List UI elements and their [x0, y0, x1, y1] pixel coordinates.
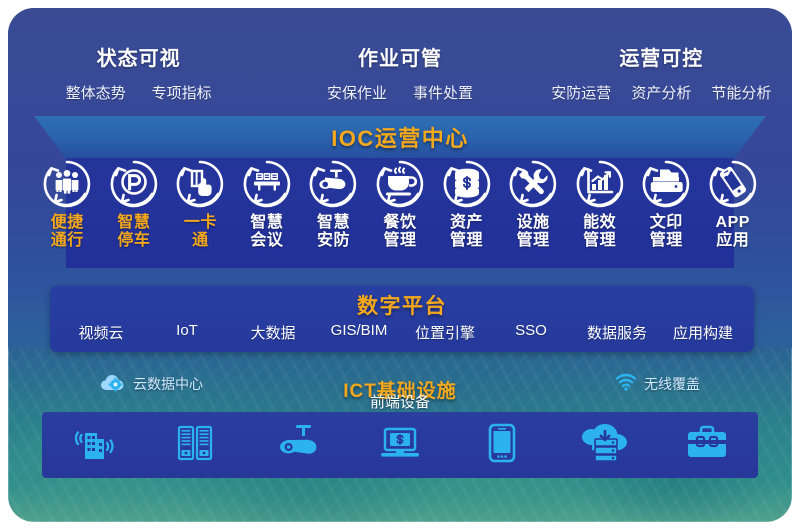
pillar-title: 作业可管 [269, 42, 530, 71]
smart-building-icon [71, 423, 115, 468]
ioc-item-label-line2: 安防 [317, 232, 350, 250]
device-server-rack[interactable] [144, 412, 246, 478]
ioc-item-label-line1: 文印 [650, 214, 683, 232]
device-laptop-payment[interactable] [349, 412, 451, 478]
ioc-item-label-line1: 一卡 [184, 214, 217, 232]
ioc-item-label-line1: 餐饮 [384, 214, 417, 232]
ioc-item-label: 设施 管理 [517, 214, 550, 250]
meeting-table-icon [241, 158, 293, 210]
ioc-item-label-line2: 通行 [51, 232, 84, 250]
ioc-item-smart-parking[interactable]: 智慧 停车 [101, 158, 168, 250]
ioc-item-label-line2: 管理 [517, 232, 550, 250]
platform-item[interactable]: 位置引擎 [402, 322, 488, 343]
pillar-subitems: 整体态势 专项指标 [8, 82, 269, 103]
ioc-item-label: 文印 管理 [650, 214, 683, 250]
hand-card-icon [174, 158, 226, 210]
pillar-subitems: 安保作业 事件处置 [269, 82, 530, 103]
top-pillars: 状态可视 整体态势 专项指标 作业可管 安保作业 事件处置 运营可控 安防运营 … [8, 42, 792, 103]
front-end-devices-panel: 前端设备 [42, 412, 758, 478]
platform-item[interactable]: SSO [488, 322, 574, 343]
ioc-item-asset-management[interactable]: 资产 管理 [433, 158, 500, 250]
pillar-subitems: 安防运营 资产分析 节能分析 [531, 82, 792, 103]
bullet-camera-icon [272, 423, 324, 468]
ioc-item-label-line1: 设施 [517, 214, 550, 232]
ioc-item-label-line2: 管理 [384, 232, 417, 250]
device-cloud-storage[interactable] [553, 412, 655, 478]
cctv-camera-icon [307, 158, 359, 210]
pillar-operation-manageable: 作业可管 安保作业 事件处置 [269, 42, 530, 103]
platform-item[interactable]: GIS/BIM [316, 322, 402, 343]
ioc-item-label: 一卡 通 [184, 214, 217, 250]
laptop-payment-icon [377, 423, 423, 468]
ioc-item-one-card-pass[interactable]: 一卡 通 [167, 158, 234, 250]
device-tablet[interactable] [451, 412, 553, 478]
ioc-item-label-line1: 资产 [450, 214, 483, 232]
device-bullet-camera[interactable] [247, 412, 349, 478]
pillar-status-visible: 状态可视 整体态势 专项指标 [8, 42, 269, 103]
platform-item[interactable]: IoT [144, 322, 230, 343]
pillar-subitem[interactable]: 事件处置 [413, 82, 473, 103]
ioc-item-label-line2: 会议 [250, 232, 283, 250]
printer-folder-icon [640, 158, 692, 210]
ioc-item-convenient-access[interactable]: 便捷 通行 [34, 158, 101, 250]
ioc-item-smart-meeting[interactable]: 智慧 会议 [234, 158, 301, 250]
ioc-item-catering-management[interactable]: 餐饮 管理 [367, 158, 434, 250]
ioc-item-label-line2: 应用 [716, 232, 750, 250]
ioc-item-label-line1: 智慧 [250, 214, 283, 232]
digital-platform-panel: 数字平台 视频云 IoT 大数据 GIS/BIM 位置引擎 SSO 数据服务 应… [50, 286, 754, 352]
ioc-item-label: 资产 管理 [450, 214, 483, 250]
ioc-item-label-line2: 管理 [650, 232, 683, 250]
tablet-device-icon [486, 422, 518, 469]
ioc-title: IOC运营中心 [34, 116, 766, 158]
pillar-subitem[interactable]: 节能分析 [711, 82, 771, 103]
pillar-subitem[interactable]: 专项指标 [152, 82, 212, 103]
ioc-item-label-line1: 能效 [583, 214, 616, 232]
ioc-item-label: 智慧 会议 [250, 214, 283, 250]
platform-item[interactable]: 大数据 [230, 322, 316, 343]
ioc-item-label-line1: 便捷 [51, 214, 84, 232]
ioc-service-list: 便捷 通行 智慧 停车 [34, 158, 766, 270]
ioc-item-label: 便捷 通行 [51, 214, 84, 250]
tools-wrench-icon [507, 158, 559, 210]
ioc-item-energy-efficiency[interactable]: 能效 管理 [566, 158, 633, 250]
platform-item[interactable]: 视频云 [58, 322, 144, 343]
ioc-item-printing-management[interactable]: 文印 管理 [633, 158, 700, 250]
pillar-title: 状态可视 [8, 42, 269, 71]
ioc-item-label-line1: 智慧 [117, 214, 150, 232]
front-end-devices-caption: 前端设备 [42, 391, 758, 412]
diagram-card: 状态可视 整体态势 专项指标 作业可管 安保作业 事件处置 运营可控 安防运营 … [8, 8, 792, 522]
ioc-item-label: 智慧 安防 [317, 214, 350, 250]
pillar-operations-controllable: 运营可控 安防运营 资产分析 节能分析 [531, 42, 792, 103]
ioc-item-label-line2: 管理 [583, 232, 616, 250]
bar-chart-icon [574, 158, 626, 210]
platform-item[interactable]: 应用构建 [660, 322, 746, 343]
ioc-item-label: 智慧 停车 [117, 214, 150, 250]
money-stack-icon [441, 158, 493, 210]
people-group-icon [41, 158, 93, 210]
cloud-storage-icon [577, 423, 633, 468]
parking-p-icon [108, 158, 160, 210]
digital-platform-title: 数字平台 [50, 290, 754, 320]
pillar-subitem[interactable]: 资产分析 [631, 82, 691, 103]
ioc-item-label: APP 应用 [716, 214, 750, 250]
ioc-item-label: 餐饮 管理 [384, 214, 417, 250]
digital-platform-items: 视频云 IoT 大数据 GIS/BIM 位置引擎 SSO 数据服务 应用构建 [58, 322, 746, 343]
ioc-item-label-line2: 停车 [117, 232, 150, 250]
pillar-subitem[interactable]: 安防运营 [551, 82, 611, 103]
ioc-item-app-application[interactable]: APP 应用 [699, 158, 766, 250]
ioc-item-label-line1: APP [716, 214, 750, 232]
device-icon-list [42, 412, 758, 478]
pillar-subitem[interactable]: 整体态势 [66, 82, 126, 103]
diagram-canvas: 状态可视 整体态势 专项指标 作业可管 安保作业 事件处置 运营可控 安防运营 … [0, 0, 800, 530]
device-toolbox[interactable] [656, 412, 758, 478]
ioc-item-smart-security[interactable]: 智慧 安防 [300, 158, 367, 250]
ioc-item-facility-management[interactable]: 设施 管理 [500, 158, 567, 250]
mobile-phone-icon [707, 158, 759, 210]
pillar-subitem[interactable]: 安保作业 [327, 82, 387, 103]
coffee-cup-icon [374, 158, 426, 210]
ioc-item-label: 能效 管理 [583, 214, 616, 250]
server-rack-icon [176, 423, 214, 468]
device-smart-building[interactable] [42, 412, 144, 478]
platform-item[interactable]: 数据服务 [574, 322, 660, 343]
toolbox-icon [684, 424, 730, 467]
ioc-item-label-line1: 智慧 [317, 214, 350, 232]
ioc-item-label-line2: 通 [184, 232, 217, 250]
ioc-item-label-line2: 管理 [450, 232, 483, 250]
pillar-title: 运营可控 [531, 42, 792, 71]
